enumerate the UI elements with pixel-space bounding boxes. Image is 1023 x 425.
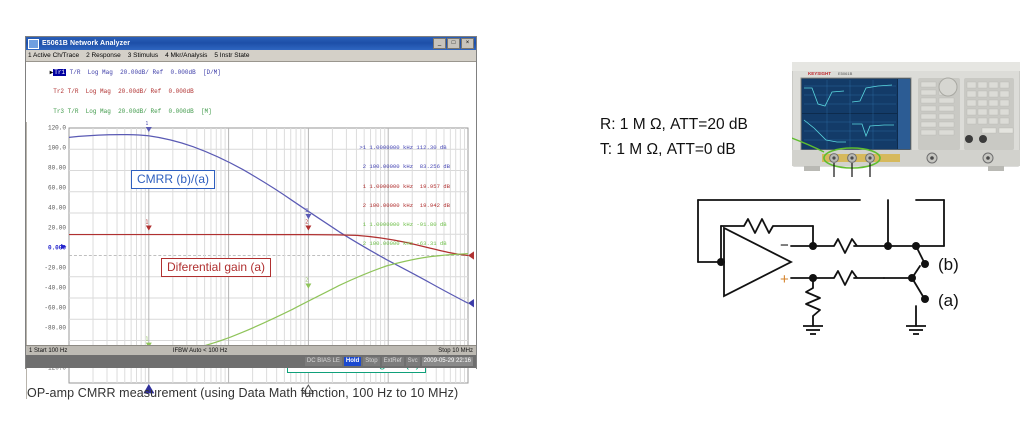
screen-softkey-panel [898, 79, 910, 149]
menu-item-active-ch-trace[interactable]: 1 Active Ch/Trace [28, 52, 79, 59]
svg-text:1: 1 [145, 121, 148, 127]
trace-row[interactable]: ▶Tr3 T/R Log Mag 20.00dB/ Ref 0.000dB [M… [28, 103, 474, 123]
measurement-conditions: R: 1 M Ω, ATT=20 dB T: 1 M Ω, ATT=0 dB [600, 112, 748, 162]
label-differential-gain: Diferential gain (a) [161, 258, 271, 277]
marker-row: 2 100.00000 kHz -63.31 dB [359, 241, 450, 247]
port-a-label: (a) [938, 291, 959, 310]
y-tick-label: 20.00 [48, 225, 66, 232]
label-cmrr: CMRR (b)/(a) [131, 170, 215, 189]
measurement-ports[interactable] [830, 154, 875, 163]
screen-lower-pane [802, 114, 897, 149]
svg-text:2: 2 [305, 278, 308, 284]
instrument-photo: KEYSIGHT E5061B [792, 62, 1020, 177]
window-titlebar[interactable]: E5061B Network Analyzer _ □ × [26, 37, 476, 50]
status-ifbw: IFBW Auto < 100 Hz [173, 348, 228, 354]
svg-text:1: 1 [145, 220, 148, 226]
figure-caption: OP-amp CMRR measurement (using Data Math… [27, 386, 458, 400]
marker-row: >1 1.0000000 kHz 112.30 dB [359, 145, 450, 151]
instrument-top-edge [792, 62, 1020, 71]
junction-dots [717, 242, 929, 303]
trace-text: T/R Log Mag 20.00dB/ Ref 0.000dB [M] [68, 108, 212, 115]
bnc-connector[interactable] [979, 135, 987, 143]
menu-item-instr-state[interactable]: 5 Instr State [214, 52, 249, 59]
marker-readout-table: >1 1.0000000 kHz 112.30 dB 2 100.00000 k… [359, 132, 450, 260]
y-tick-label: -40.00 [44, 285, 66, 292]
window-title: E5061B Network Analyzer [42, 40, 130, 47]
instrument-status-bar: DC BIAS LE Hold Stop ExtRef Svc 2009-05-… [26, 355, 476, 368]
y-tick-label: 40.00 [48, 205, 66, 212]
status-start: 1 Start 100 Hz [29, 348, 67, 354]
close-button[interactable]: × [461, 38, 474, 49]
menu-item-response[interactable]: 2 Response [86, 52, 121, 59]
extref-segment[interactable]: ExtRef [382, 357, 404, 366]
y-tick-label: 60.00 [48, 185, 66, 192]
circuit-wires [698, 200, 944, 326]
window-controls: _ □ × [433, 38, 474, 49]
trace-settings-panel: ▶Tr1 T/R Log Mag 20.00dB/ Ref 0.000dB [D… [26, 62, 476, 122]
marker-row: 2 100.00000 kHz 83.256 dB [359, 164, 450, 170]
brand-logo: KEYSIGHT [808, 71, 831, 76]
y-tick-label: 120.0 [48, 125, 66, 132]
model-label: E5061B [838, 71, 853, 76]
network-analyzer-window: E5061B Network Analyzer _ □ × 1 Active C… [25, 36, 477, 369]
resistor-ground [806, 288, 820, 316]
minimize-button[interactable]: _ [433, 38, 446, 49]
status-bar: 1 Start 100 Hz IFBW Auto < 100 Hz Stop 1… [26, 345, 476, 355]
rotary-knob[interactable] [939, 78, 957, 96]
opamp-noninverting-label: + [780, 271, 789, 288]
hold-segment[interactable]: Hold [344, 357, 361, 366]
trace-row[interactable]: ▶Tr2 T/R Log Mag 20.00dB/ Ref 0.000dB [28, 83, 474, 103]
circuit-diagram: − + (b) (a) [676, 186, 976, 336]
dc-bias-segment[interactable]: DC BIAS LE [305, 357, 342, 366]
datetime-segment: 2009-05-29 22:16 [422, 357, 473, 366]
status-stop: Stop 10 MHz [438, 348, 473, 354]
svc-segment[interactable]: Svc [406, 357, 420, 366]
bnc-connector[interactable] [965, 135, 973, 143]
screen-upper-pane [802, 79, 897, 113]
resistor-feedback [744, 219, 773, 233]
menu-item-stimulus[interactable]: 3 Stimulus [128, 52, 158, 59]
y-tick-label: -20.00 [44, 265, 66, 272]
ground-symbol [803, 326, 926, 334]
usb-slot[interactable] [982, 128, 996, 133]
trace-id[interactable]: Tr3 [53, 108, 64, 115]
instrument-foot [988, 166, 1004, 171]
instrument-photo-svg: KEYSIGHT E5061B [792, 62, 1020, 177]
trace-end-cap [468, 252, 474, 260]
marker-row: 2 100.00000 kHz 19.942 dB [359, 203, 450, 209]
opamp-inverting-label: − [780, 237, 789, 254]
usb-slot[interactable] [999, 128, 1013, 133]
instrument-foot [804, 166, 820, 171]
condition-receiver: R: 1 M Ω, ATT=20 dB [600, 112, 748, 137]
svg-text:2: 2 [305, 220, 308, 226]
trace-end-cap [468, 299, 474, 307]
y-tick-label: 100.0 [48, 145, 66, 152]
network-analyzer-icon [28, 39, 39, 49]
port-b-label: (b) [938, 255, 959, 274]
trace-id[interactable]: Tr1 [53, 69, 66, 76]
marker-row: 1 1.0000000 kHz 19.957 dB [359, 184, 450, 190]
menu-item-mkr-analysis[interactable]: 4 Mkr/Analysis [165, 52, 207, 59]
condition-transmitter: T: 1 M Ω, ATT=0 dB [600, 137, 748, 162]
svg-text:1: 1 [145, 337, 148, 343]
svg-text:2: 2 [305, 208, 308, 214]
menu-bar: 1 Active Ch/Trace 2 Response 3 Stimulus … [26, 50, 476, 62]
circuit-diagram-svg: − + (b) (a) [676, 186, 976, 336]
trace-text: T/R Log Mag 20.00dB/ Ref 0.000dB [D/M] [70, 69, 221, 76]
maximize-button[interactable]: □ [447, 38, 460, 49]
marker-row: 1 1.0000000 kHz -91.80 dB [359, 222, 450, 228]
y-tick-label: -60.00 [44, 305, 66, 312]
y-tick-label: -80.00 [44, 325, 66, 332]
trace-text: T/R Log Mag 20.00dB/ Ref 0.000dB [68, 88, 194, 95]
trace-row[interactable]: ▶Tr1 T/R Log Mag 20.00dB/ Ref 0.000dB [D… [28, 63, 474, 83]
y-tick-label: 80.00 [48, 165, 66, 172]
trace-id[interactable]: Tr2 [53, 88, 64, 95]
stop-segment[interactable]: Stop [363, 357, 379, 366]
reference-marker-icon: ▶ [61, 242, 66, 252]
